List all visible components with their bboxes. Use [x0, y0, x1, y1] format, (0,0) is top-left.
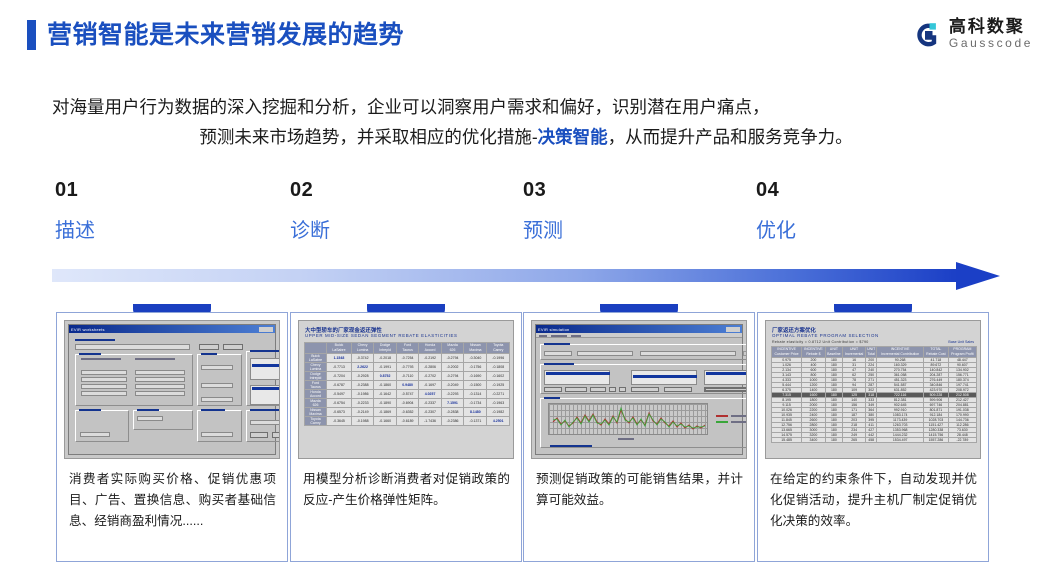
purchase-select-1[interactable] [81, 370, 127, 375]
matrix-cell: -0.3645 [327, 417, 352, 426]
optimizer-title-en: OPTIMAL REBATE PROGRAM SELECTION [772, 333, 879, 338]
screenshot-thumbnail-dialog: EVIR worksheets [64, 320, 280, 459]
chart-xlabel [618, 438, 634, 440]
page-title: 营销智能是未来营销发展的趋势 [27, 20, 404, 50]
regions-listbox[interactable] [250, 385, 280, 405]
matrix-row-header: Mazda626 [305, 399, 327, 408]
rebase-model-select[interactable] [250, 420, 280, 425]
matrix-cell: -0.1734 [464, 399, 487, 408]
optimizer-note: Rebate elasticity = 0.8712 Unit Contribu… [772, 340, 869, 344]
matrix-cell: -0.1988 [351, 417, 373, 426]
simulation-list[interactable] [544, 370, 610, 385]
msrp-change-group [197, 410, 242, 442]
lease-cash-input[interactable] [201, 365, 233, 370]
matrix-cell: -0.1860 [374, 381, 396, 390]
field-label-program-description [75, 339, 115, 341]
chart-series [549, 404, 709, 436]
dealer-cash-label [79, 409, 101, 411]
card-row: EVIR worksheets [0, 296, 1051, 566]
matrix-cell: -0.1890 [374, 399, 396, 408]
step-04: 04 优化 [756, 178, 956, 244]
matrix-cell: -0.2192 [419, 354, 441, 363]
matrix-row-header: NissanMaxima [305, 408, 327, 417]
menu-tools[interactable] [571, 335, 581, 337]
card-optimize[interactable]: 厂家返还方案优化 OPTIMAL REBATE PROGRAM SELECTIO… [757, 304, 989, 562]
card-caption-4: 在给定的约束条件下，自动发现并优化促销活动，提升主机厂制定促销优化决策的效率。 [758, 459, 988, 532]
progress-arrow [52, 262, 1000, 290]
simulations-data-label [544, 343, 570, 345]
optimizer-col-header: UNITBaseline [825, 347, 842, 358]
dialog-titlebar: EVIR worksheets [69, 325, 275, 333]
step-03-number: 03 [523, 178, 723, 202]
arrow-head-icon [956, 262, 1000, 290]
matrix-cell: -0.2149 [351, 408, 373, 417]
card-body-1: EVIR worksheets [56, 312, 288, 562]
paragraph-highlight: 决策智能 [538, 127, 608, 147]
rebase-clear-button[interactable] [250, 432, 268, 438]
optimizer-col-header: INCENTIVECustomer Price [772, 347, 802, 358]
purchase-select-4[interactable] [135, 377, 185, 382]
results-label [544, 397, 560, 399]
optimizer-cell: 15.485 [772, 438, 802, 443]
card-diagnose[interactable]: 大中型轿车的厂家现金返还弹性 UPPER MID-SIZE SEDAN SEGM… [290, 304, 522, 562]
matrix-cell: -0.6754 [327, 399, 352, 408]
optimizer-col-header: TOTALRebate Cost [924, 347, 949, 358]
card-caption-3: 预测促销政策的可能销售结果，并计算可能效益。 [524, 459, 754, 511]
optimizer-cell: 1534.497 [877, 438, 924, 443]
base-incentives-label [250, 350, 280, 352]
step-03-name: 预测 [523, 218, 723, 244]
matrix-cell: -0.2838 [441, 408, 463, 417]
card-caption-1: 消费者实际购买价格、促销优惠项目、广告、置换信息、购买者基础信息、经销商盈利情况… [57, 459, 287, 532]
matrix-cell: -0.2049 [441, 381, 463, 390]
matrix-col-header: NissanMaxima [464, 343, 487, 354]
matrix-cell: -0.2702 [419, 372, 441, 381]
simulation-options-label [544, 363, 574, 365]
matrix-cell: 0.8752 [374, 372, 396, 381]
matrix-col-header: ChevyLumina [351, 343, 373, 354]
correlation-footnote [550, 445, 592, 447]
matrix-row-header: DodgeIntrepid [305, 372, 327, 381]
matrix-cell: -0.1500 [464, 381, 487, 390]
matrix-cell: -0.2794 [441, 354, 463, 363]
window-controls-icon [259, 327, 273, 332]
matrix-cell: -0.7204 [327, 372, 352, 381]
matrix-cell: -0.1642 [374, 390, 396, 399]
output-options-selected [706, 372, 747, 375]
step-01-number: 01 [55, 178, 255, 202]
matrix-cell: -0.1602 [487, 372, 510, 381]
arrow-shaft [52, 269, 957, 282]
table-row: BuickLaSabre1.1548-0.3742-0.2018-0.7254-… [305, 354, 510, 363]
matrix-cell: -0.6904 [396, 399, 418, 408]
matrix-cell: -0.7254 [396, 354, 418, 363]
optimizer-table: INCENTIVECustomer PriceINCENTIVERebate $… [771, 346, 977, 443]
intro-paragraph: 对海量用户行为数据的深入挖掘和分析，企业可以洞察用户需求和偏好，识别潜在用户痛点… [52, 92, 1000, 152]
legacy-simulation-window: EVIR simulation [535, 324, 743, 455]
matrix-cell: -0.3742 [351, 354, 373, 363]
bonus-cash-select[interactable] [137, 416, 163, 421]
table-row: DodgeIntrepid-0.7204-0.29280.8752-0.7110… [305, 372, 510, 381]
optimizer-cell: 1557.286 [924, 438, 949, 443]
logo-chinese-name: 高科数聚 [949, 18, 1033, 36]
gausscode-logo-icon [912, 20, 942, 50]
leases-label [201, 353, 217, 355]
slide-root: 营销智能是未来营销发展的趋势 高科数聚 Gausscode 对海量用户行为数据的… [0, 0, 1051, 586]
optimizer-cell: 265 [843, 438, 866, 443]
move-down-button[interactable] [619, 387, 626, 392]
matrix-cell: -0.6573 [327, 408, 352, 417]
step-04-number: 04 [756, 178, 956, 202]
optimizer-col-header: INCENTIVERebate $ [802, 347, 826, 358]
table-row: FordTaurus-0.6787-0.2388-0.18600.9480-0.… [305, 381, 510, 390]
legacy-dialog-window: EVIR worksheets [68, 324, 276, 455]
table-row: Mazda626-0.6754-0.2233-0.1890-0.6904-0.2… [305, 399, 510, 408]
legend-label-actual [731, 421, 747, 423]
matrix-cell: -0.6352 [396, 408, 418, 417]
matrix-cell: -0.1925 [487, 381, 510, 390]
residual-subsidy-input[interactable] [201, 383, 233, 388]
paragraph-line-2-after: ，从而提升产品和服务竞争力。 [608, 127, 853, 147]
matrix-cell: -0.7713 [327, 363, 352, 372]
output-options-list[interactable] [704, 370, 747, 385]
graph-button[interactable] [704, 387, 747, 392]
matrix-col-header: Mazda626 [441, 343, 463, 354]
segment-select[interactable] [577, 351, 633, 356]
matrix-cell: -0.1991 [374, 363, 396, 372]
matrix-cell: -0.5747 [396, 390, 418, 399]
purchase-select-7[interactable] [81, 391, 127, 396]
paragraph-line-2: 预测未来市场趋势，并采取相应的优化措施-决策智能，从而提升产品和服务竞争力。 [52, 122, 1000, 152]
matrix-col-header: FordTaurus [396, 343, 418, 354]
edit-button[interactable] [590, 387, 606, 392]
purchase-select-5[interactable] [81, 384, 127, 389]
matrix-cell: 8.1480 [464, 408, 487, 417]
optimizer-col-header: UNITIncremental [843, 347, 866, 358]
step-02-number: 02 [290, 178, 490, 202]
regions-selected-item [252, 387, 280, 390]
matrix-cell: 1.1548 [327, 354, 352, 363]
matrix-cell: -0.2002 [441, 363, 463, 372]
brand-logo: 高科数聚 Gausscode [912, 18, 1033, 51]
matrix-cell: 0.9480 [396, 381, 418, 390]
optimizer-col-header: PROGRAMProgram Profit [948, 347, 976, 358]
matrix-cell: -0.2018 [374, 354, 396, 363]
optimizer-note2: Base Unit Sales [948, 340, 974, 344]
program-description-input[interactable] [75, 344, 190, 350]
title-accent-bar [27, 20, 36, 50]
title-text: 营销智能是未来营销发展的趋势 [47, 20, 404, 50]
step-03: 03 预测 [523, 178, 723, 244]
card-body-4: 厂家返还方案优化 OPTIMAL REBATE PROGRAM SELECTIO… [757, 312, 989, 562]
card-predict[interactable]: EVIR simulation [523, 304, 755, 562]
step-01: 01 描述 [55, 178, 255, 244]
matrix-cell: -0.1756 [464, 363, 487, 372]
step-02: 02 诊断 [290, 178, 490, 244]
logo-english-name: Gausscode [949, 36, 1033, 51]
matrix-row-header: ToyotaCamry [305, 417, 327, 426]
models-listbox[interactable] [250, 358, 280, 380]
screenshot-thumbnail-simulation: EVIR simulation [531, 320, 747, 459]
optimizer-cell: 3400 [802, 438, 826, 443]
matrix-cell: -0.2307 [419, 408, 441, 417]
models-list[interactable] [631, 370, 697, 385]
msrp-amount-input[interactable] [201, 432, 233, 437]
clear-all-button-sim[interactable] [664, 387, 692, 392]
matrix-cell: -0.1996 [487, 354, 510, 363]
move-up-button[interactable] [609, 387, 616, 392]
matrix-cell: -0.1869 [374, 408, 396, 417]
slide-header: 营销智能是未来营销发展的趋势 高科数聚 Gausscode [0, 0, 1051, 78]
matrix-cell: 2.2622 [351, 363, 373, 372]
matrix-cell: -0.1690 [464, 372, 487, 381]
optimizer-col-header: INCENTIVEIncremental Contribution [877, 347, 924, 358]
step-01-name: 描述 [55, 218, 255, 244]
matrix-cell: 4.0257 [419, 390, 441, 399]
msrp-change-label [201, 409, 225, 411]
card-describe[interactable]: EVIR worksheets [56, 304, 288, 562]
matrix-cell: -0.2386 [441, 417, 463, 426]
purchase-select-6[interactable] [135, 384, 185, 389]
matrix-cell: -0.2388 [351, 381, 373, 390]
matrix-cell: -0.1808 [487, 363, 510, 372]
select-all-button-sim[interactable] [631, 387, 659, 392]
matrix-col-header: ToyotaCamry [487, 343, 510, 354]
remove-button[interactable] [565, 387, 587, 392]
simulation-window-controls-icon [726, 327, 740, 332]
models-list-selected [633, 375, 697, 378]
matrix-row-header: BuickLaSabre [305, 354, 327, 363]
market-case-select[interactable] [544, 351, 572, 356]
close-button[interactable] [223, 344, 243, 350]
models-selected-item [252, 364, 280, 367]
matrix-title-en: UPPER MID-SIZE SEDAN SEGMENT REBATE ELAS… [305, 333, 458, 338]
residual-pct-input[interactable] [201, 397, 233, 402]
matrix-cell: -0.6787 [327, 381, 352, 390]
legend-label-sim [731, 415, 747, 417]
screenshot-thumbnail-elasticity-matrix: 大中型轿车的厂家现金返还弹性 UPPER MID-SIZE SEDAN SEGM… [298, 320, 514, 459]
table-row: 15.48534001802654581534.4971557.286-22.7… [772, 438, 977, 443]
matrix-cell: -0.2293 [441, 390, 463, 399]
table-row: ToyotaCamry-0.3645-0.1988-0.1660-0.6189-… [305, 417, 510, 426]
matrix-cell: -0.2806 [419, 363, 441, 372]
purchase-select-8[interactable] [135, 391, 185, 396]
rebate-subsidy-label [81, 358, 121, 360]
screenshot-thumbnail-optimizer: 厂家返还方案优化 OPTIMAL REBATE PROGRAM SELECTIO… [765, 320, 981, 459]
matrix-cell: -0.7793 [396, 363, 418, 372]
legend-swatch-sim [716, 415, 728, 417]
rebase-incentives-label [250, 409, 280, 411]
step-02-name: 诊断 [290, 218, 490, 244]
paragraph-line-2-before: 预测未来市场趋势，并采取相应的优化措施- [199, 127, 537, 147]
card-body-2: 大中型轿车的厂家现金返还弹性 UPPER MID-SIZE SEDAN SEGM… [290, 312, 522, 562]
matrix-cell: 7.1591 [441, 399, 463, 408]
optimizer-cell: 458 [866, 438, 877, 443]
simulation-title: EVIR simulation [538, 327, 569, 332]
step-labels: 01 描述 02 诊断 03 预测 04 优化 [0, 178, 1051, 248]
table-row: HondaAccord-0.5497-0.1986-0.1642-0.57474… [305, 390, 510, 399]
matrix-cell: -0.7110 [396, 372, 418, 381]
purchase-select-3[interactable] [81, 377, 127, 382]
matrix-row-header: FordTaurus [305, 381, 327, 390]
optimizer-col-header: UNITTotal [866, 347, 877, 358]
matrix-cell: -1.7436 [419, 417, 441, 426]
matrix-cell: -0.1963 [487, 399, 510, 408]
dealer-cash-group [75, 410, 129, 442]
matrix-col-header: BuickLaSabre [327, 343, 352, 354]
card-caption-2: 用模型分析诊断消费者对促销政策的反应-产生价格弹性矩阵。 [291, 459, 521, 511]
card-body-3: EVIR simulation [523, 312, 755, 562]
results-chart [548, 403, 708, 435]
optimizer-cell: -22.789 [948, 438, 976, 443]
matrix-row-header: HondaAccord [305, 390, 327, 399]
matrix-cell: -0.3040 [464, 354, 487, 363]
table-row: ChevyLumina-0.77132.2622-0.1991-0.7793-0… [305, 363, 510, 372]
matrix-row-header: ChevyLumina [305, 363, 327, 372]
regions-select[interactable] [640, 351, 736, 356]
rebate-apr-combo-label [135, 358, 175, 360]
matrix-cell: -0.1982 [487, 408, 510, 417]
purchase-select-2[interactable] [135, 370, 185, 375]
matrix-cell: -0.6189 [396, 417, 418, 426]
matrix-cell: -0.2794 [441, 372, 463, 381]
restore-environment-button[interactable] [272, 432, 280, 438]
simulation-titlebar: EVIR simulation [536, 325, 742, 333]
matrix-col-header: HondaAccord [419, 343, 441, 354]
save-button[interactable] [199, 344, 219, 350]
matrix-cell: 4.2501 [487, 417, 510, 426]
bonus-cash-label [137, 409, 159, 411]
matrix-cell: -0.2233 [351, 399, 373, 408]
matrix-cell: -0.5497 [327, 390, 352, 399]
matrix-cell: -0.1697 [419, 381, 441, 390]
simulation-menubar[interactable] [536, 333, 742, 338]
matrix-cell: -0.2271 [487, 390, 510, 399]
dialog-title: EVIR worksheets [71, 327, 105, 332]
paragraph-line-1: 对海量用户行为数据的深入挖掘和分析，企业可以洞察用户需求和偏好，识别潜在用户痛点… [52, 92, 1000, 122]
simulation-list-selected [546, 372, 610, 375]
matrix-cell: -0.2928 [351, 372, 373, 381]
optimizer-cell: 180 [825, 438, 842, 443]
matrix-cell: -0.1660 [374, 417, 396, 426]
step-04-name: 优化 [756, 218, 956, 244]
matrix-cell: -0.1986 [351, 390, 373, 399]
add-button[interactable] [544, 387, 562, 392]
menu-file[interactable] [539, 335, 547, 337]
elasticity-matrix-table: BuickLaSabreChevyLuminaDodgeIntrepidFord… [304, 342, 510, 426]
matrix-cell: -0.1371 [464, 417, 487, 426]
table-row: NissanMaxima-0.6573-0.2149-0.1869-0.6352… [305, 408, 510, 417]
dealer-cash-select[interactable] [80, 432, 110, 437]
matrix-col-header: DodgeIntrepid [374, 343, 396, 354]
logo-wordmark: 高科数聚 Gausscode [949, 18, 1033, 51]
menu-simulation[interactable] [551, 335, 567, 337]
matrix-cell: -0.2337 [419, 399, 441, 408]
purchases-label [79, 353, 101, 355]
legend-swatch-actual [716, 421, 728, 423]
matrix-cell: -0.1314 [464, 390, 487, 399]
save-case-button[interactable] [743, 351, 747, 356]
